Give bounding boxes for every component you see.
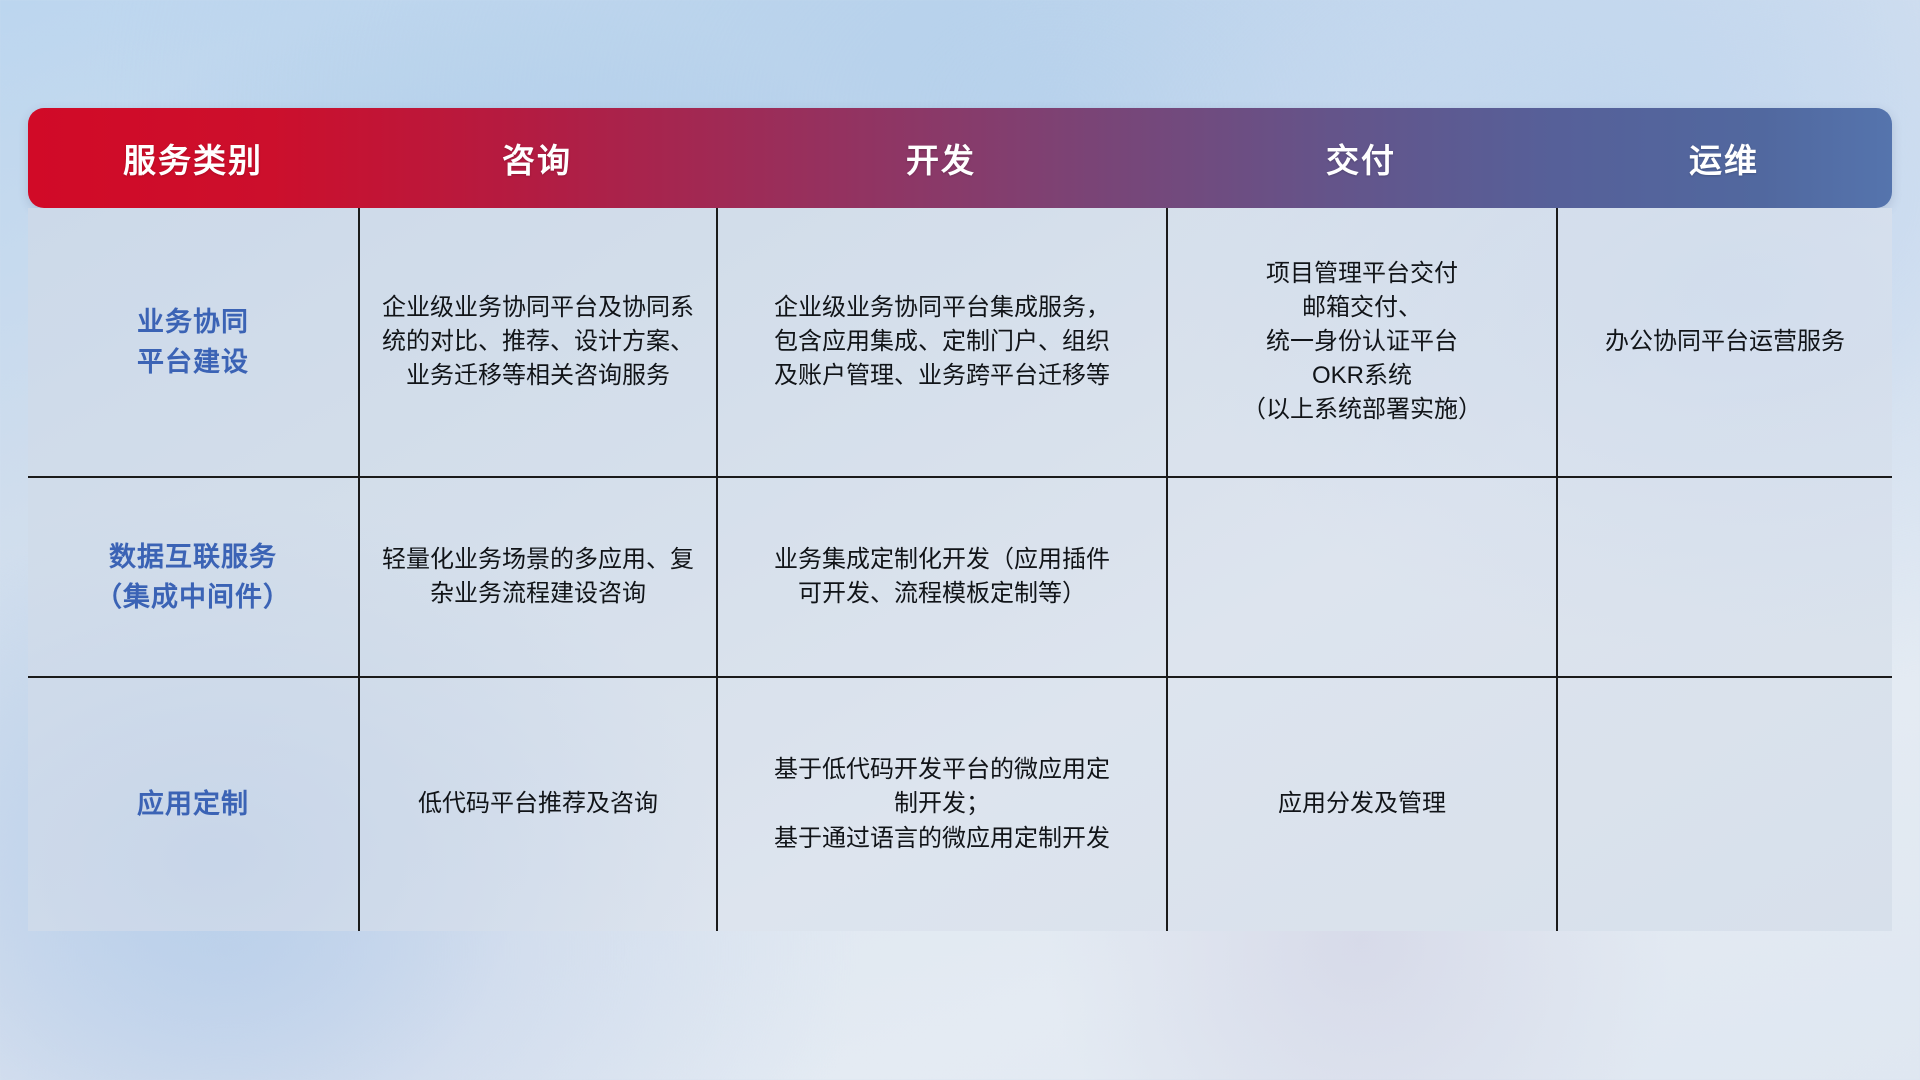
cell-category: 业务协同 平台建设 [28, 208, 358, 476]
cell-consulting: 企业级业务协同平台及协同系 统的对比、推荐、设计方案、 业务迁移等相关咨询服务 [358, 208, 716, 476]
table-row: 应用定制 低代码平台推荐及咨询 基于低代码开发平台的微应用定 制开发； 基于通过… [28, 676, 1892, 931]
column-header-operations: 运维 [1556, 134, 1892, 182]
cell-category: 应用定制 [28, 678, 358, 931]
cell-development: 基于低代码开发平台的微应用定 制开发； 基于通过语言的微应用定制开发 [716, 678, 1166, 931]
slide-canvas: 服务类别 咨询 开发 交付 运维 业务协同 平台建设 企业级业务协同平台及协同系… [0, 0, 1920, 1080]
table-header-row: 服务类别 咨询 开发 交付 运维 [28, 108, 1892, 208]
column-header-category: 服务类别 [28, 134, 358, 182]
cell-operations: 办公协同平台运营服务 [1556, 208, 1892, 476]
cell-development: 业务集成定制化开发（应用插件 可开发、流程模板定制等） [716, 478, 1166, 676]
cell-delivery [1166, 478, 1556, 676]
cell-consulting: 轻量化业务场景的多应用、复 杂业务流程建设咨询 [358, 478, 716, 676]
cell-consulting: 低代码平台推荐及咨询 [358, 678, 716, 931]
column-header-development: 开发 [716, 134, 1166, 182]
service-matrix-table: 服务类别 咨询 开发 交付 运维 业务协同 平台建设 企业级业务协同平台及协同系… [28, 108, 1892, 963]
table-row: 业务协同 平台建设 企业级业务协同平台及协同系 统的对比、推荐、设计方案、 业务… [28, 208, 1892, 476]
table-row: 数据互联服务 （集成中间件） 轻量化业务场景的多应用、复 杂业务流程建设咨询 业… [28, 476, 1892, 676]
cell-operations [1556, 678, 1892, 931]
column-header-consulting: 咨询 [358, 134, 716, 182]
cell-operations [1556, 478, 1892, 676]
cell-development: 企业级业务协同平台集成服务， 包含应用集成、定制门户、组织 及账户管理、业务跨平… [716, 208, 1166, 476]
cell-delivery: 应用分发及管理 [1166, 678, 1556, 931]
table-body: 业务协同 平台建设 企业级业务协同平台及协同系 统的对比、推荐、设计方案、 业务… [28, 208, 1892, 931]
cell-delivery: 项目管理平台交付 邮箱交付、 统一身份认证平台 OKR系统 （以上系统部署实施） [1166, 208, 1556, 476]
cell-category: 数据互联服务 （集成中间件） [28, 478, 358, 676]
column-header-delivery: 交付 [1166, 134, 1556, 182]
